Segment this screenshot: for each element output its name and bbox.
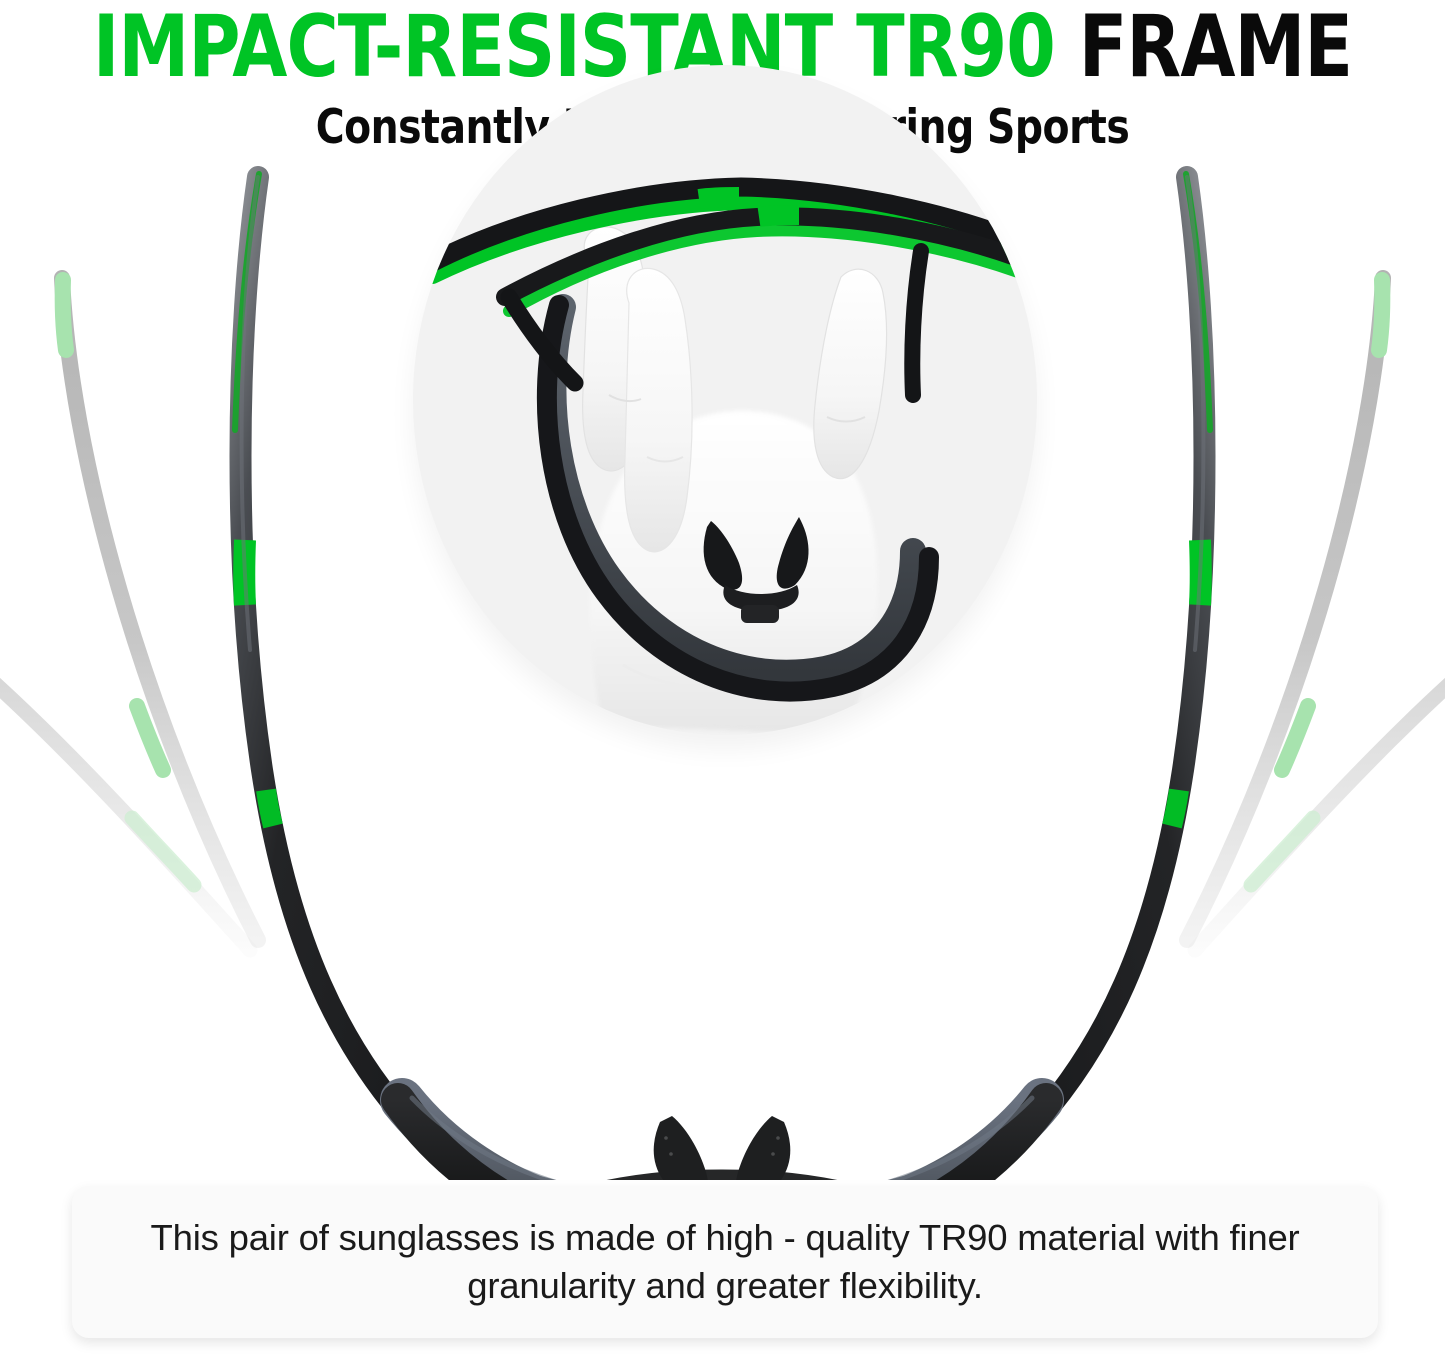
description-text: This pair of sunglasses is made of high … (135, 1214, 1315, 1310)
inset-nose-clip (741, 605, 779, 623)
inset-hinge-green-right (759, 215, 799, 217)
nose-assembly (600, 1116, 844, 1180)
inset-frame-upper (431, 187, 1037, 395)
nose-pad-right (736, 1116, 790, 1180)
motion-echo-arms-left (0, 278, 258, 950)
inset-hinge-green-left (699, 197, 739, 199)
inset-right-temple (912, 251, 921, 395)
nose-pad-left (654, 1116, 708, 1180)
right-temple-arm (1025, 174, 1210, 1135)
motion-echo-arms-right (1187, 278, 1445, 950)
left-temple-green-accent-lower (266, 790, 273, 826)
description-card: This pair of sunglasses is made of high … (72, 1186, 1378, 1338)
left-temple-arm (235, 174, 420, 1135)
frame-and-lens (398, 1098, 1046, 1180)
inset-detail-circle (413, 65, 1037, 735)
nose-bridge (600, 1178, 844, 1180)
gloved-hand-flex-illustration (413, 65, 1037, 735)
headline-black-text: FRAME (1055, 0, 1352, 97)
right-temple-green-accent-lower (1172, 790, 1179, 826)
